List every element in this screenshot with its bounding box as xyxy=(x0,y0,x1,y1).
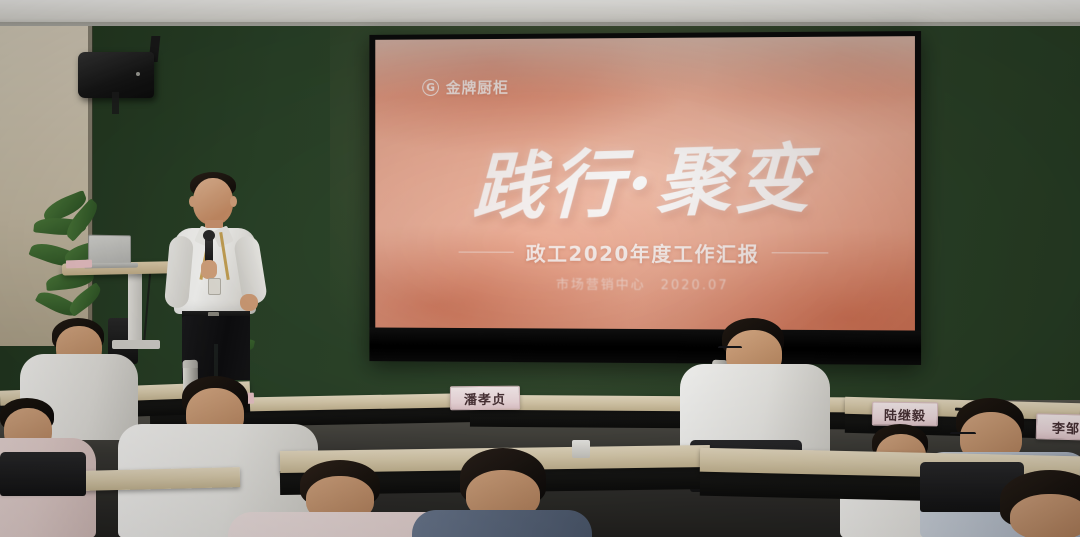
rule-right xyxy=(771,252,828,254)
slide-subtitle-row: 政工2020年度工作汇报 xyxy=(375,238,915,268)
audience-member xyxy=(412,448,592,537)
name-placard: 潘孝贞 xyxy=(450,386,520,411)
slide-title: 践行·聚变 xyxy=(375,115,915,238)
slide-meta: 市场营销中心 2020.07 xyxy=(375,273,915,294)
lectern-papers xyxy=(66,260,92,269)
projection-screen: G 金牌厨柜 践行·聚变 政工2020年度工作汇报 市场营销中心 2020.07 xyxy=(369,31,921,365)
presentation-room-photo: G 金牌厨柜 践行·聚变 政工2020年度工作汇报 市场营销中心 2020.07 xyxy=(0,0,1080,537)
presenter-hand xyxy=(240,294,258,311)
audience-body xyxy=(412,510,592,537)
presenter-badge xyxy=(208,278,221,295)
projection-screen-surface: G 金牌厨柜 践行·聚变 政工2020年度工作汇报 市场营销中心 2020.07 xyxy=(375,36,915,330)
slide-brand-logo: G 金牌厨柜 xyxy=(422,77,509,98)
laptop xyxy=(88,235,131,267)
glasses-icon xyxy=(718,346,742,350)
rule-left xyxy=(459,251,514,253)
audience-head xyxy=(1010,494,1080,537)
speaker-stem xyxy=(112,92,119,114)
microphone-head-icon xyxy=(203,230,215,241)
audience-member xyxy=(1000,470,1080,537)
presenter-leg-gap xyxy=(214,344,218,380)
presenter xyxy=(160,168,272,380)
chair xyxy=(0,452,86,496)
slide: G 金牌厨柜 践行·聚变 政工2020年度工作汇报 市场营销中心 2020.07 xyxy=(375,36,915,330)
presenter-ear xyxy=(189,196,196,207)
glasses-icon xyxy=(950,432,976,436)
presenter-head xyxy=(193,178,233,225)
slide-subtitle: 政工2020年度工作汇报 xyxy=(526,238,760,268)
brand-mark-icon: G xyxy=(422,79,439,96)
screen-bottom-bar xyxy=(369,327,921,364)
presenter-hand xyxy=(201,260,217,279)
presenter-ear xyxy=(230,196,237,207)
brand-name: 金牌厨柜 xyxy=(446,77,509,98)
